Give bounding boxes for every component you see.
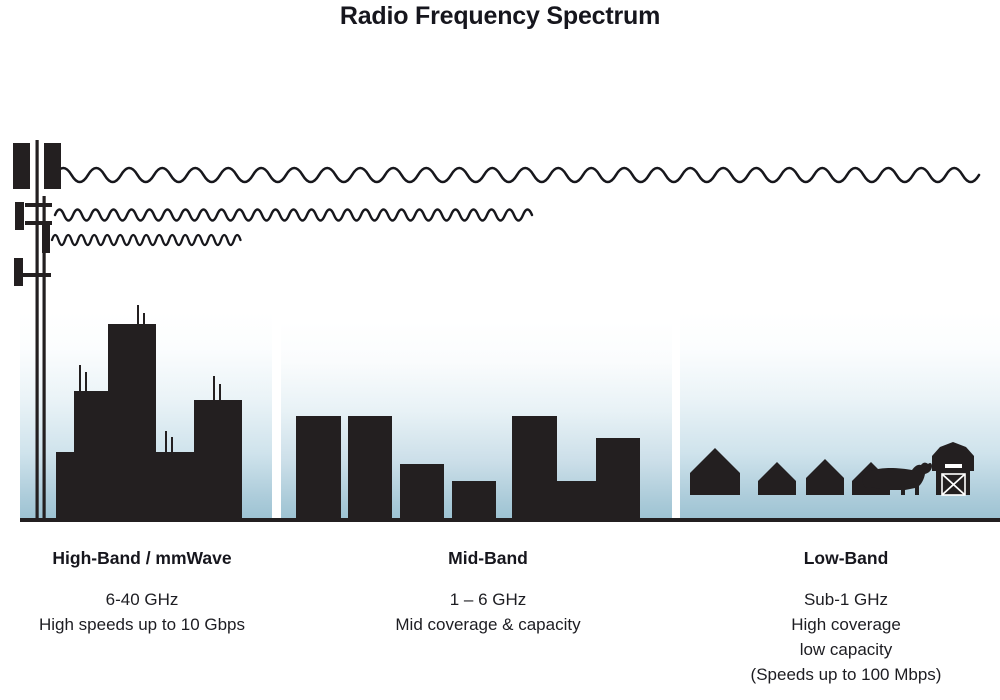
band-caption-low: Low-Band Sub-1 GHz High coverage low cap…: [692, 548, 1000, 688]
tower-antenna-panel-5: [14, 258, 23, 286]
band-name-mid: Mid-Band: [288, 548, 688, 570]
tower-antenna-panel-4: [42, 225, 50, 253]
tower-antenna-panel-2: [44, 143, 61, 189]
midrise-building: [512, 416, 557, 520]
midrise-building: [557, 481, 600, 520]
mid-band-wave: [55, 210, 532, 221]
band-detail-line: High coverage: [692, 612, 1000, 637]
band-detail-line: low capacity: [692, 637, 1000, 662]
low-band-wave: [55, 168, 979, 182]
midrise-building: [348, 416, 392, 520]
band-caption-high: High-Band / mmWave 6-40 GHz High speeds …: [0, 548, 284, 637]
tower-cross-arm-top: [25, 203, 52, 207]
barn: [932, 442, 974, 495]
tower-mast-left: [36, 140, 39, 520]
band-caption-mid: Mid-Band 1 – 6 GHz Mid coverage & capaci…: [288, 548, 688, 637]
tower-cross-arm-bottom: [22, 273, 51, 277]
tower-cross-arm-mid: [25, 221, 52, 225]
midrise-building: [296, 416, 341, 520]
band-detail-line: High speeds up to 10 Gbps: [0, 612, 284, 637]
tower-antenna-panel-1: [13, 143, 30, 189]
midrise-building: [400, 464, 444, 520]
city-building: [108, 324, 156, 520]
city-building: [56, 452, 108, 520]
city-building: [160, 452, 242, 520]
midrise-building: [596, 438, 640, 520]
band-detail-line: (Speeds up to 100 Mbps): [692, 662, 1000, 687]
high-band-wave: [52, 235, 241, 245]
infographic-canvas: Radio Frequency Spectrum: [0, 0, 1000, 700]
band-detail-mid: 1 – 6 GHz Mid coverage & capacity: [288, 587, 688, 637]
band-detail-line: 1 – 6 GHz: [288, 587, 688, 612]
barn-hayloft-window: [945, 464, 962, 468]
band-name-high: High-Band / mmWave: [0, 548, 284, 570]
band-detail-low: Sub-1 GHz High coverage low capacity (Sp…: [692, 587, 1000, 688]
ground-line: [20, 518, 1000, 522]
band-detail-line: Mid coverage & capacity: [288, 612, 688, 637]
band-detail-high: 6-40 GHz High speeds up to 10 Gbps: [0, 587, 284, 637]
band-detail-line: 6-40 GHz: [0, 587, 284, 612]
tower-antenna-panel-3: [15, 202, 24, 230]
band-name-low: Low-Band: [692, 548, 1000, 570]
band-detail-line: Sub-1 GHz: [692, 587, 1000, 612]
radio-waves: [52, 168, 979, 245]
midrise-building: [452, 481, 496, 520]
